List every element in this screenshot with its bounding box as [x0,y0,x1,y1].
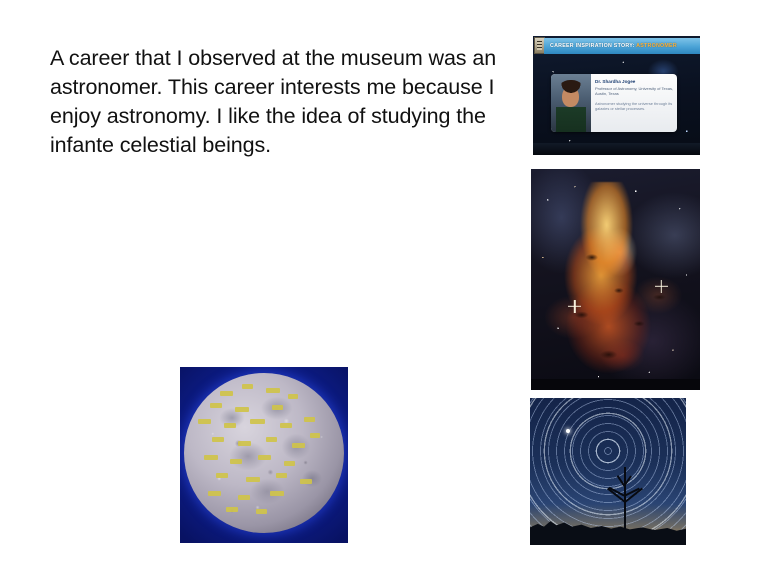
moon-feature-label [288,394,298,399]
bare-tree-silhouette [624,467,626,529]
star-trails-image[interactable] [530,398,686,545]
exhibit-banner-prefix: CAREER INSPIRATION STORY: [550,43,635,49]
labeled-moon-map-image[interactable] [180,367,348,543]
moon-feature-label [270,491,284,496]
bright-star-icon [568,300,581,313]
moon-feature-label [226,507,238,512]
display-bezel [533,143,700,155]
moon-feature-label [238,495,250,500]
moon-feature-label [198,419,211,424]
moon-feature-label [280,423,292,428]
astronomer-portrait [551,74,591,132]
astronomer-caption: Astronomer studying the universe through… [595,101,674,111]
moon-feature-label [224,423,236,428]
exhibit-banner: CAREER INSPIRATION STORY: ASTRONOMER [544,38,700,54]
nebula-lower-border [531,379,700,390]
moon-feature-label [235,407,249,412]
astronomer-card-text: Dr. Shardha Jogee Professor of Astronomy… [591,74,677,132]
star-trail-rings-bright [530,398,686,545]
moon-feature-label [284,461,295,466]
moon-feature-label [250,419,265,424]
moon-feature-label [204,455,218,460]
moon-feature-label [258,455,271,460]
moon-feature-label [304,417,315,422]
moon-feature-label [292,443,305,448]
moon-feature-label [208,491,221,496]
museum-exhibit-image[interactable]: CAREER INSPIRATION STORY: ASTRONOMER Dr.… [533,36,700,155]
bright-star-icon [655,280,668,293]
moon-feature-label [220,391,233,396]
nebula-starfield [531,169,700,390]
nebula-image[interactable] [531,169,700,390]
moon-feature-label [212,437,224,442]
moon-feature-label [266,388,280,393]
moon-feature-label [246,477,260,482]
exhibit-banner-highlight: ASTRONOMER [635,43,677,49]
moon-feature-label [266,437,277,442]
astronomer-role: Professor of Astronomy, University of Te… [595,86,674,96]
moon-feature-label [238,441,251,446]
moon-feature-label [310,433,320,438]
moon-feature-label [210,403,222,408]
exhibit-banner-text: CAREER INSPIRATION STORY: ASTRONOMER [544,43,677,49]
slide-canvas: A career that I observed at the museum w… [0,0,768,561]
moon-feature-label [230,459,242,464]
moon-feature-label [242,384,253,389]
moon-feature-label [276,473,287,478]
career-reflection-paragraph: A career that I observed at the museum w… [50,44,502,160]
moon-feature-label [256,509,267,514]
astronomer-info-card: Dr. Shardha Jogee Professor of Astronomy… [551,74,677,132]
moon-feature-label [300,479,312,484]
astronomer-name: Dr. Shardha Jogee [595,79,674,85]
moon-feature-label [272,405,283,410]
moon-feature-label [216,473,228,478]
polaris-star-icon [566,429,570,433]
